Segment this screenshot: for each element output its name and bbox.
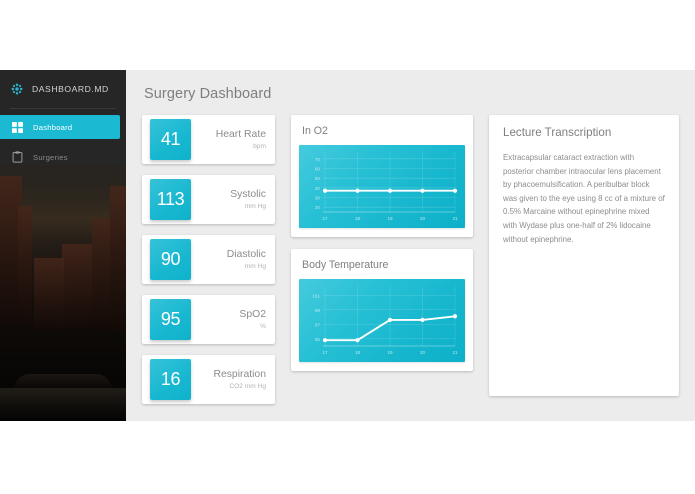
metric-text: Diastolic mm Hg: [227, 249, 266, 270]
svg-text:99: 99: [315, 308, 321, 313]
svg-text:20: 20: [420, 350, 426, 355]
svg-text:101: 101: [312, 293, 320, 298]
metric-card-respiration[interactable]: 16 Respiration CO2 mm Hg: [142, 355, 275, 404]
page-title: Surgery Dashboard: [144, 86, 679, 102]
svg-text:19: 19: [387, 216, 393, 221]
svg-text:30: 30: [315, 196, 321, 201]
chart-card-body-temperature: Body Temperature 1019997951718192021: [291, 249, 473, 371]
sidebar-item-surgeries[interactable]: Surgeries: [0, 145, 120, 169]
metric-value-badge: 95: [150, 299, 191, 340]
svg-text:21: 21: [452, 350, 458, 355]
lecture-column: Lecture Transcription Extracapsular cata…: [489, 115, 679, 396]
metric-card-systolic[interactable]: 113 Systolic mm Hg: [142, 175, 275, 224]
svg-text:40: 40: [315, 186, 321, 191]
main-content: Surgery Dashboard 41 Heart Rate bpm 113 …: [126, 70, 695, 421]
lecture-body: Extracapsular cataract extraction with p…: [503, 151, 665, 246]
metric-unit: bpm: [216, 143, 266, 150]
chart-plot-in-o2[interactable]: 7060504030201718192021: [299, 145, 465, 228]
metric-value-badge: 113: [150, 179, 191, 220]
metric-text: Heart Rate bpm: [216, 129, 266, 150]
svg-text:17: 17: [322, 216, 328, 221]
sidebar-item-surgeries-label: Surgeries: [33, 153, 68, 162]
svg-text:70: 70: [315, 157, 321, 162]
svg-text:20: 20: [420, 216, 426, 221]
brand: DASHBOARD.MD: [0, 70, 126, 108]
sidebar-background-photo: [0, 166, 126, 421]
svg-text:20: 20: [315, 205, 321, 210]
svg-text:50: 50: [315, 176, 321, 181]
chart-plot-body-temperature[interactable]: 1019997951718192021: [299, 279, 465, 362]
svg-text:95: 95: [315, 337, 321, 342]
chart-card-in-o2: In O2 7060504030201718192021: [291, 115, 473, 237]
app-window: DASHBOARD.MD Dashboard: [0, 70, 695, 421]
metric-name: Systolic: [230, 189, 266, 201]
sidebar-nav: Dashboard Surgeries: [0, 109, 126, 169]
chart-title: Body Temperature: [302, 259, 465, 271]
metric-text: Respiration CO2 mm Hg: [213, 369, 266, 390]
clipboard-icon: [12, 151, 23, 163]
metric-name: Respiration: [213, 369, 266, 381]
svg-text:18: 18: [355, 216, 361, 221]
lecture-title: Lecture Transcription: [503, 126, 665, 139]
sidebar: DASHBOARD.MD Dashboard: [0, 70, 126, 421]
brand-title: DASHBOARD.MD: [32, 84, 109, 94]
lecture-transcription-card: Lecture Transcription Extracapsular cata…: [489, 115, 679, 396]
svg-text:19: 19: [387, 350, 393, 355]
sidebar-item-dashboard[interactable]: Dashboard: [0, 115, 120, 139]
svg-text:97: 97: [315, 322, 321, 327]
charts-column: In O2 7060504030201718192021 Body Temper…: [291, 115, 473, 383]
dashboard-columns: 41 Heart Rate bpm 113 Systolic mm Hg 90: [142, 115, 679, 415]
atom-logo-icon: [11, 83, 23, 95]
svg-text:17: 17: [322, 350, 328, 355]
metric-text: Systolic mm Hg: [230, 189, 266, 210]
svg-text:21: 21: [452, 216, 458, 221]
metric-card-spo2[interactable]: 95 SpO2 %: [142, 295, 275, 344]
metric-card-heart-rate[interactable]: 41 Heart Rate bpm: [142, 115, 275, 164]
metric-unit: mm Hg: [227, 263, 266, 270]
metric-name: Heart Rate: [216, 129, 266, 141]
metric-value-badge: 90: [150, 239, 191, 280]
svg-text:18: 18: [355, 350, 361, 355]
metric-name: SpO2: [239, 309, 266, 321]
metric-unit: %: [239, 323, 266, 330]
metric-value-badge: 41: [150, 119, 191, 160]
metric-text: SpO2 %: [239, 309, 266, 330]
metric-card-diastolic[interactable]: 90 Diastolic mm Hg: [142, 235, 275, 284]
metric-unit: mm Hg: [230, 203, 266, 210]
metrics-column: 41 Heart Rate bpm 113 Systolic mm Hg 90: [142, 115, 275, 415]
sidebar-item-dashboard-label: Dashboard: [33, 123, 72, 132]
chart-title: In O2: [302, 125, 465, 137]
metric-name: Diastolic: [227, 249, 266, 261]
svg-text:60: 60: [315, 167, 321, 172]
metric-value-badge: 16: [150, 359, 191, 400]
metric-unit: CO2 mm Hg: [213, 383, 266, 390]
grid-icon: [12, 122, 23, 133]
